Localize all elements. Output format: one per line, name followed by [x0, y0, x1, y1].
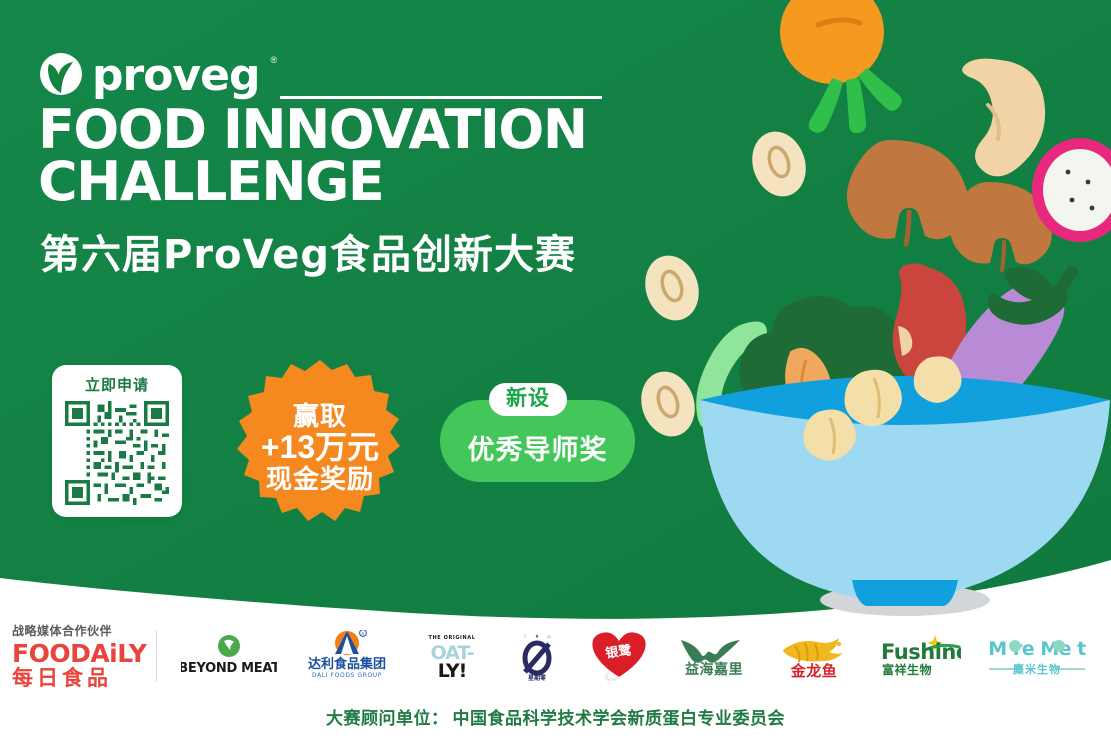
poster-root: proveg ® FOOD INNOVATION CHALLENGE 第六届Pr… [0, 0, 1111, 741]
beyond-meat-logo: BEYOND MEAT [181, 633, 277, 679]
dali-foods-logo: R 达利食品集团 DALI FOODS GROUP [301, 630, 393, 682]
starfield-zero-logo: ♢ ♦ ▫ 星期零 [511, 630, 563, 682]
advisor-label: 大赛顾问单位： [326, 709, 449, 728]
footer-divider [156, 630, 157, 682]
mentor-award-label: 优秀导师奖 [468, 428, 608, 467]
svg-text:Fushine: Fushine [881, 640, 961, 664]
qr-code-icon[interactable] [65, 401, 169, 505]
svg-text:益海嘉里: 益海嘉里 [685, 661, 743, 678]
svg-text:星期零: 星期零 [528, 674, 547, 682]
advisor-line: 大赛顾问单位：中国食品科学技术学会新质蛋白专业委员会 [0, 704, 1111, 729]
moremeat-logo: M re Me t 麋米生物 [985, 633, 1089, 679]
foodaily-logo-cn: 每日食品 [12, 668, 152, 690]
svg-text:达利食品集团: 达利食品集团 [308, 656, 386, 672]
registered-mark: ® [270, 55, 277, 65]
svg-text:麋米生物: 麋米生物 [1013, 662, 1061, 676]
fushine-logo: Fushine 富祥生物 [875, 633, 961, 679]
media-partner-label: 战略媒体合作伙伴 [12, 622, 152, 639]
foodaily-logo-en: FOODAiLY [12, 641, 152, 666]
prize-line-3: 现金奖励 [266, 466, 374, 494]
prize-amount: +13万元 [261, 431, 379, 465]
svg-text:R: R [362, 631, 365, 636]
mentor-new-tag: 新设 [489, 383, 567, 416]
svg-text:▫: ▫ [547, 634, 550, 640]
yihai-kerry-logo: 益海嘉里 [675, 632, 753, 680]
footer: 战略媒体合作伙伴 FOODAiLY 每日食品 BEYOND MEAT [0, 612, 1111, 741]
page-title-cn: 第六届ProVeg食品创新大赛 [40, 232, 576, 278]
svg-text:LY!: LY! [438, 660, 467, 681]
proveg-logo: proveg ® [40, 52, 276, 96]
prize-badge: 赢取 +13万元 现金奖励 [228, 358, 412, 538]
arawana-logo: 金龙鱼 [777, 632, 851, 680]
svg-text:♦: ♦ [535, 634, 539, 640]
svg-text:富祥生物: 富祥生物 [882, 662, 932, 677]
svg-text:M re Me t: M re Me t [988, 638, 1086, 660]
prize-line-1: 赢取 [293, 403, 347, 431]
page-title-en: FOOD INNOVATION CHALLENGE [38, 104, 587, 208]
svg-text:DALI FOODS GROUP: DALI FOODS GROUP [312, 672, 382, 679]
oatly-logo: THE ORIGINAL OAT- LY! [417, 631, 487, 681]
proveg-wordmark: proveg [92, 54, 259, 98]
qr-apply-card[interactable]: 立即申请 [52, 365, 182, 517]
media-partner-block: 战略媒体合作伙伴 FOODAiLY 每日食品 [0, 622, 152, 690]
qr-label: 立即申请 [85, 374, 149, 395]
svg-text:BEYOND MEAT: BEYOND MEAT [181, 661, 277, 676]
svg-text:金龙鱼: 金龙鱼 [790, 662, 838, 680]
advisor-name: 中国食品科学技术学会新质蛋白专业委员会 [453, 709, 786, 728]
partners-row: 战略媒体合作伙伴 FOODAiLY 每日食品 BEYOND MEAT [0, 620, 1111, 692]
sponsor-logos: BEYOND MEAT R 达利食品集团 DALI FOODS GROUP [169, 620, 1111, 692]
svg-text:THE ORIGINAL: THE ORIGINAL [428, 635, 475, 641]
svg-text:♢: ♢ [523, 634, 527, 640]
yinlu-logo: 银鹭 [587, 631, 651, 681]
proveg-leaf-icon [40, 53, 82, 95]
